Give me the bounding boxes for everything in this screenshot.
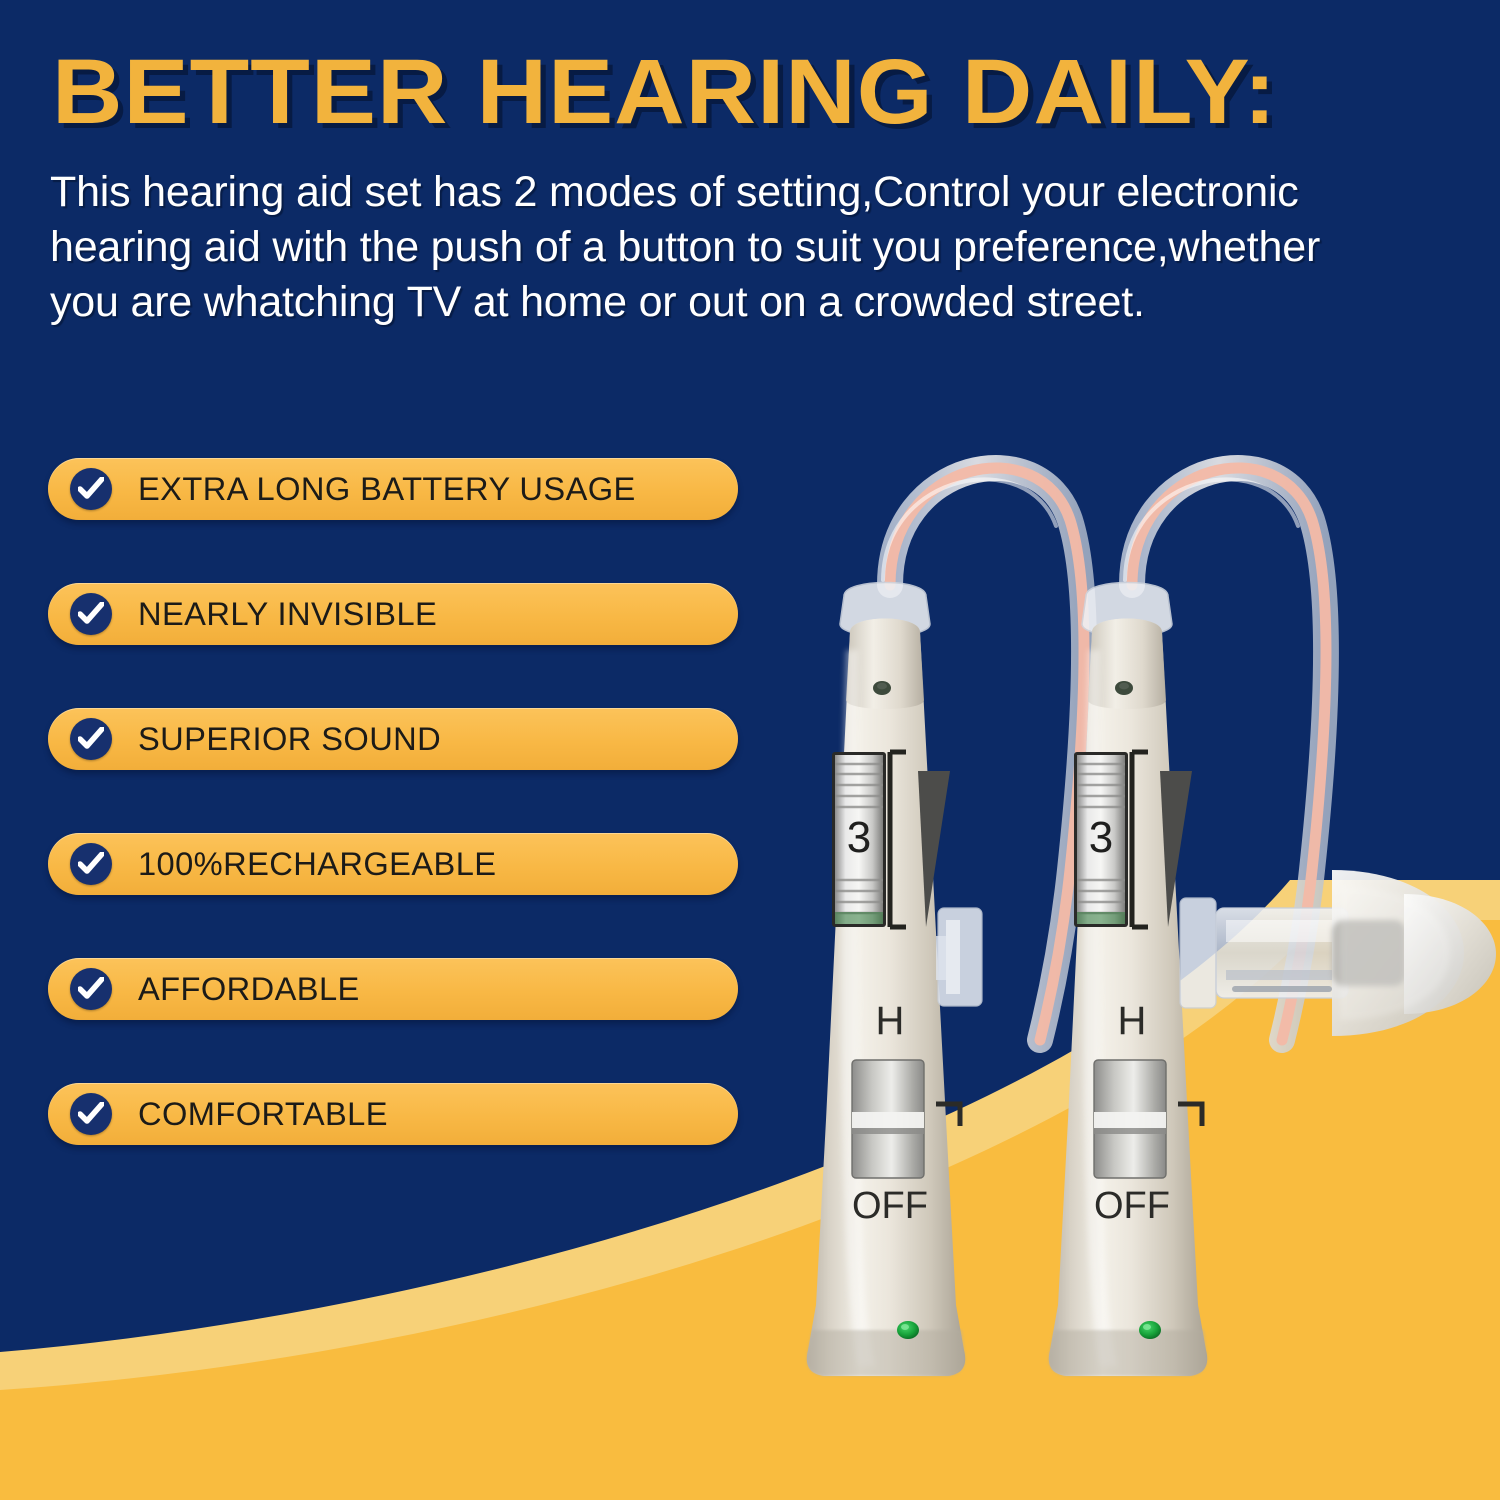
feature-pill[interactable]: 100%RECHARGEABLE <box>48 833 738 895</box>
feature-list: EXTRA LONG BATTERY USAGE NEARLY INVISIBL… <box>48 458 738 1145</box>
check-circle-icon <box>70 968 112 1010</box>
feature-label: AFFORDABLE <box>138 971 360 1008</box>
check-circle-icon <box>70 593 112 635</box>
status-led-left <box>897 1321 919 1339</box>
volume-value-left: 3 <box>847 813 871 862</box>
feature-label: EXTRA LONG BATTERY USAGE <box>138 471 636 508</box>
body-base-shade-left <box>807 1330 965 1376</box>
status-led-right <box>1139 1321 1161 1339</box>
intro-paragraph: This hearing aid set has 2 modes of sett… <box>50 165 1370 330</box>
volume-value-right: 3 <box>1089 813 1113 862</box>
mode-label-off-right: OFF <box>1094 1185 1170 1227</box>
promo-banner: BETTER HEARING DAILY: This hearing aid s… <box>0 0 1500 1500</box>
feature-pill[interactable]: EXTRA LONG BATTERY USAGE <box>48 458 738 520</box>
feature-pill[interactable]: NEARLY INVISIBLE <box>48 583 738 645</box>
feature-label: COMFORTABLE <box>138 1096 388 1133</box>
ear-tip-connector-left <box>936 908 982 1006</box>
product-photo: 3 H OFF <box>740 400 1500 1410</box>
volume-wheel-right[interactable]: 3 <box>1074 752 1128 927</box>
ear-tip-assembly <box>1180 870 1496 1036</box>
check-circle-icon <box>70 1093 112 1135</box>
check-circle-icon <box>70 843 112 885</box>
check-circle-icon <box>70 718 112 760</box>
mode-label-h-right: H <box>1118 999 1147 1043</box>
body-base-shade-right <box>1049 1330 1207 1376</box>
feature-label: NEARLY INVISIBLE <box>138 596 437 633</box>
feature-label: SUPERIOR SOUND <box>138 721 441 758</box>
check-circle-icon <box>70 468 112 510</box>
feature-label: 100%RECHARGEABLE <box>138 846 496 883</box>
mode-label-off-left: OFF <box>852 1185 928 1227</box>
feature-pill[interactable]: COMFORTABLE <box>48 1083 738 1145</box>
volume-wheel-left[interactable]: 3 <box>832 752 886 927</box>
feature-pill[interactable]: SUPERIOR SOUND <box>48 708 738 770</box>
mode-label-h-left: H <box>876 999 905 1043</box>
page-title: BETTER HEARING DAILY: <box>52 46 1430 138</box>
feature-pill[interactable]: AFFORDABLE <box>48 958 738 1020</box>
